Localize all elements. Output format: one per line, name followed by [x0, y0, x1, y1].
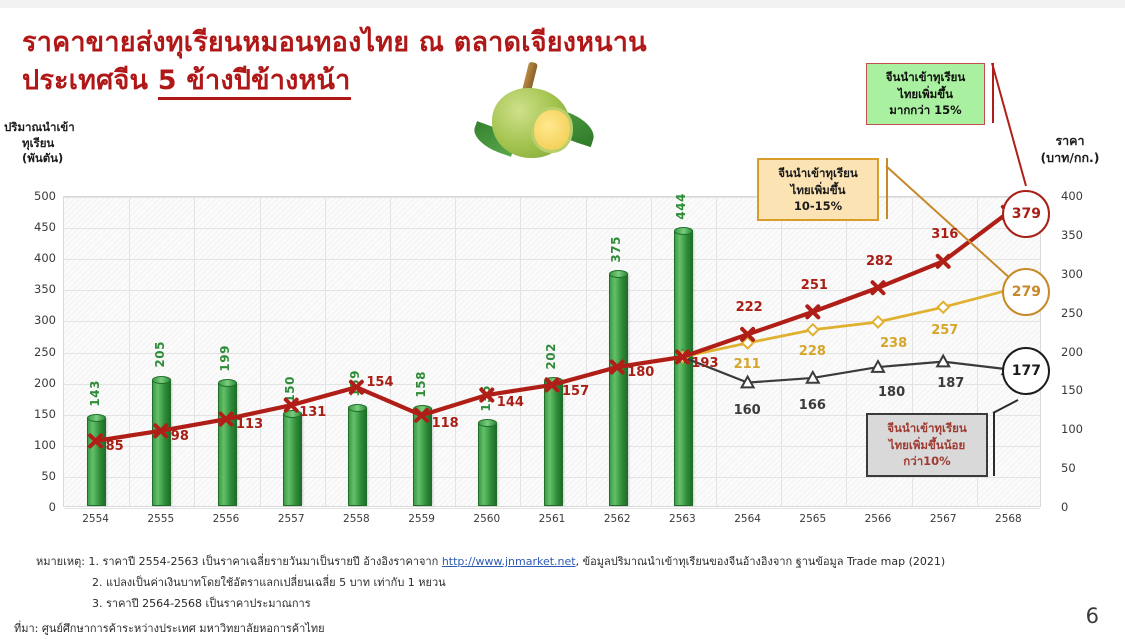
y-axis-tick-right: 250 — [1061, 306, 1105, 320]
point-value-label: 160 — [734, 403, 761, 418]
point-value-label: 85 — [106, 439, 124, 454]
left-axis-title: ปริมาณนำเข้า ทุเรียน (พันตัน) — [4, 120, 75, 167]
point-value-label: 187 — [937, 376, 964, 391]
bar-value-label: 159 — [348, 370, 362, 397]
right-axis-title: ราคา (บาท/กก.) — [1020, 133, 1120, 167]
bar-value-label: 205 — [153, 341, 167, 368]
gridline-horizontal — [64, 508, 1040, 509]
bar[interactable] — [674, 230, 693, 506]
y-axis-tick-right: 400 — [1061, 189, 1105, 203]
y-axis-tick-right: 100 — [1061, 422, 1105, 436]
gridline-horizontal — [64, 290, 1040, 291]
callout-gray-line3: กว่า10% — [876, 453, 978, 470]
bar-value-label: 444 — [674, 193, 688, 220]
x-axis-tick: 2565 — [778, 513, 848, 525]
point-value-label: 211 — [734, 357, 761, 372]
callout-green-leader-bracket — [992, 63, 994, 123]
y-axis-tick-left: 150 — [12, 407, 56, 421]
callout-gray-line2: ไทยเพิ่มขึ้นน้อย — [876, 437, 978, 454]
y-axis-tick-left: 500 — [12, 189, 56, 203]
left-axis-title-line3: (พันตัน) — [4, 151, 75, 167]
right-axis-title-line2: (บาท/กก.) — [1040, 150, 1099, 165]
x-axis-tick: 2556 — [191, 513, 261, 525]
x-axis-tick: 2568 — [973, 513, 1043, 525]
durian-image — [470, 62, 600, 170]
gridline-horizontal — [64, 197, 1040, 198]
callout-gray-leader-bracket — [993, 413, 995, 476]
bar-value-label: 199 — [218, 345, 232, 372]
x-axis-tick: 2567 — [908, 513, 978, 525]
point-value-label: 257 — [931, 323, 958, 338]
footnote-2: 2. แปลงเป็นค่าเงินบาทโดยใช้อัตราแลกเปลี่… — [36, 573, 1096, 594]
point-value-label: 251 — [801, 278, 828, 293]
gridline-vertical — [781, 197, 782, 506]
point-value-label: 282 — [866, 254, 893, 269]
page-number: 6 — [1086, 604, 1099, 628]
x-axis-tick: 2563 — [647, 513, 717, 525]
point-value-label: 154 — [366, 375, 393, 390]
point-value-label: 131 — [299, 405, 326, 420]
bar[interactable] — [348, 407, 367, 506]
gridline-vertical — [455, 197, 456, 506]
y-axis-tick-right: 350 — [1061, 228, 1105, 242]
x-axis-tick: 2557 — [256, 513, 326, 525]
gridline-vertical — [520, 197, 521, 506]
gridline-horizontal — [64, 228, 1040, 229]
callout-orange-line2: ไทยเพิ่มขึ้น — [767, 182, 869, 199]
y-axis-tick-left: 300 — [12, 313, 56, 327]
y-axis-tick-right: 50 — [1061, 461, 1105, 475]
y-axis-tick-left: 350 — [12, 282, 56, 296]
point-value-label: 98 — [171, 429, 189, 444]
gridline-vertical — [325, 197, 326, 506]
gridline-horizontal — [64, 259, 1040, 260]
left-axis-title-line1: ปริมาณนำเข้า — [4, 120, 75, 134]
gridline-vertical — [129, 197, 130, 506]
bar[interactable] — [87, 417, 106, 506]
gridline-vertical — [716, 197, 717, 506]
point-value-label: 113 — [236, 417, 263, 432]
x-axis-tick: 2558 — [321, 513, 391, 525]
callout-green-line2: ไทยเพิ่มขึ้น — [875, 86, 976, 103]
slide: ราคาขายส่งทุเรียนหมอนทองไทย ณ ตลาดเจียงห… — [0, 0, 1125, 639]
gridline-vertical — [260, 197, 261, 506]
x-axis-tick: 2561 — [517, 513, 587, 525]
callout-leader-line — [992, 63, 1026, 186]
y-axis-tick-left: 0 — [12, 500, 56, 514]
y-axis-tick-right: 150 — [1061, 383, 1105, 397]
callout-orange-line1: จีนนำเข้าทุเรียน — [767, 165, 869, 182]
callout-gray-line1: จีนนำเข้าทุเรียน — [876, 420, 978, 437]
title-line-1: ราคาขายส่งทุเรียนหมอนทองไทย ณ ตลาดเจียงห… — [22, 27, 647, 58]
gridline-vertical — [390, 197, 391, 506]
point-value-label: 228 — [799, 344, 826, 359]
footnote-1-pre: หมายเหตุ: 1. ราคาปี 2554-2563 เป็นราคาเฉ… — [36, 555, 442, 568]
callout-orange-line3: 10-15% — [767, 198, 869, 215]
gridline-vertical — [194, 197, 195, 506]
x-axis-tick: 2564 — [713, 513, 783, 525]
y-axis-tick-left: 400 — [12, 251, 56, 265]
title-line-2-pre: ประเทศจีน — [22, 65, 158, 96]
bar[interactable] — [283, 413, 302, 506]
y-axis-tick-left: 100 — [12, 438, 56, 452]
callout-orange-leader-bracket — [886, 158, 888, 219]
gridline-vertical — [846, 197, 847, 506]
bar[interactable] — [218, 382, 237, 506]
point-value-label: 180 — [878, 385, 905, 400]
y-axis-tick-right: 200 — [1061, 345, 1105, 359]
point-value-label: 157 — [562, 384, 589, 399]
x-axis-tick: 2562 — [582, 513, 652, 525]
point-value-label: 118 — [432, 416, 459, 431]
bar[interactable] — [544, 380, 563, 506]
bar[interactable] — [152, 379, 171, 507]
bar-value-label: 158 — [414, 371, 428, 398]
x-axis-tick: 2559 — [387, 513, 457, 525]
y-axis-tick-right: 0 — [1061, 500, 1105, 514]
point-value-label: 180 — [627, 365, 654, 380]
bar-value-label: 202 — [544, 343, 558, 370]
bar-value-label: 135 — [479, 385, 493, 412]
bar-value-label: 375 — [609, 236, 623, 263]
callout-green-line3: มากกว่า 15% — [875, 102, 976, 119]
bar-value-label: 150 — [283, 376, 297, 403]
y-axis-tick-left: 450 — [12, 220, 56, 234]
footnotes: หมายเหตุ: 1. ราคาปี 2554-2563 เป็นราคาเฉ… — [36, 552, 1096, 615]
source-note: ที่มา: ศูนย์ศึกษาการค้าระหว่างประเทศ มหา… — [14, 619, 325, 637]
footnote-link[interactable]: http://www.jnmarket.net — [442, 555, 576, 568]
bar[interactable] — [413, 408, 432, 506]
end-marker-mid[interactable]: 279 — [1002, 268, 1050, 316]
callout-orange: จีนนำเข้าทุเรียน ไทยเพิ่มขึ้น 10-15% — [757, 158, 879, 221]
footnote-1: หมายเหตุ: 1. ราคาปี 2554-2563 เป็นราคาเฉ… — [36, 552, 1096, 573]
end-marker-low[interactable]: 177 — [1002, 347, 1050, 395]
footnote-1-post: , ข้อมูลปริมาณนำเข้าทุเรียนของจีนอ้างอิง… — [576, 555, 946, 568]
y-axis-tick-left: 200 — [12, 376, 56, 390]
x-axis-tick: 2560 — [452, 513, 522, 525]
bar-value-label: 143 — [88, 380, 102, 407]
y-axis-tick-left: 250 — [12, 345, 56, 359]
callout-green: จีนนำเข้าทุเรียน ไทยเพิ่มขึ้น มากกว่า 15… — [866, 63, 985, 125]
point-value-label: 193 — [691, 356, 718, 371]
point-value-label: 144 — [497, 395, 524, 410]
top-strip — [0, 0, 1125, 8]
callout-green-line1: จีนนำเข้าทุเรียน — [875, 69, 976, 86]
x-axis-tick: 2554 — [61, 513, 131, 525]
gridline-vertical — [586, 197, 587, 506]
point-value-label: 316 — [931, 227, 958, 242]
x-axis-tick: 2555 — [126, 513, 196, 525]
footnote-3: 3. ราคาปี 2564-2568 เป็นราคาประมาณการ — [36, 594, 1096, 615]
gridline-vertical — [651, 197, 652, 506]
callout-gray: จีนนำเข้าทุเรียน ไทยเพิ่มขึ้นน้อย กว่า10… — [866, 413, 988, 477]
left-axis-title-line2: ทุเรียน — [4, 136, 75, 152]
y-axis-tick-left: 50 — [12, 469, 56, 483]
gridline-horizontal — [64, 321, 1040, 322]
bar[interactable] — [478, 422, 497, 506]
x-axis-tick: 2566 — [843, 513, 913, 525]
y-axis-tick-right: 300 — [1061, 267, 1105, 281]
point-value-label: 238 — [880, 336, 907, 351]
point-value-label: 166 — [799, 398, 826, 413]
end-marker-high[interactable]: 379 — [1002, 190, 1050, 238]
bar[interactable] — [609, 273, 628, 506]
durian-flesh-icon — [534, 110, 570, 150]
point-value-label: 222 — [736, 300, 763, 315]
right-axis-title-line1: ราคา — [1055, 133, 1084, 148]
title-line-2-underlined: 5 ข้างปีข้างหน้า — [158, 65, 351, 100]
